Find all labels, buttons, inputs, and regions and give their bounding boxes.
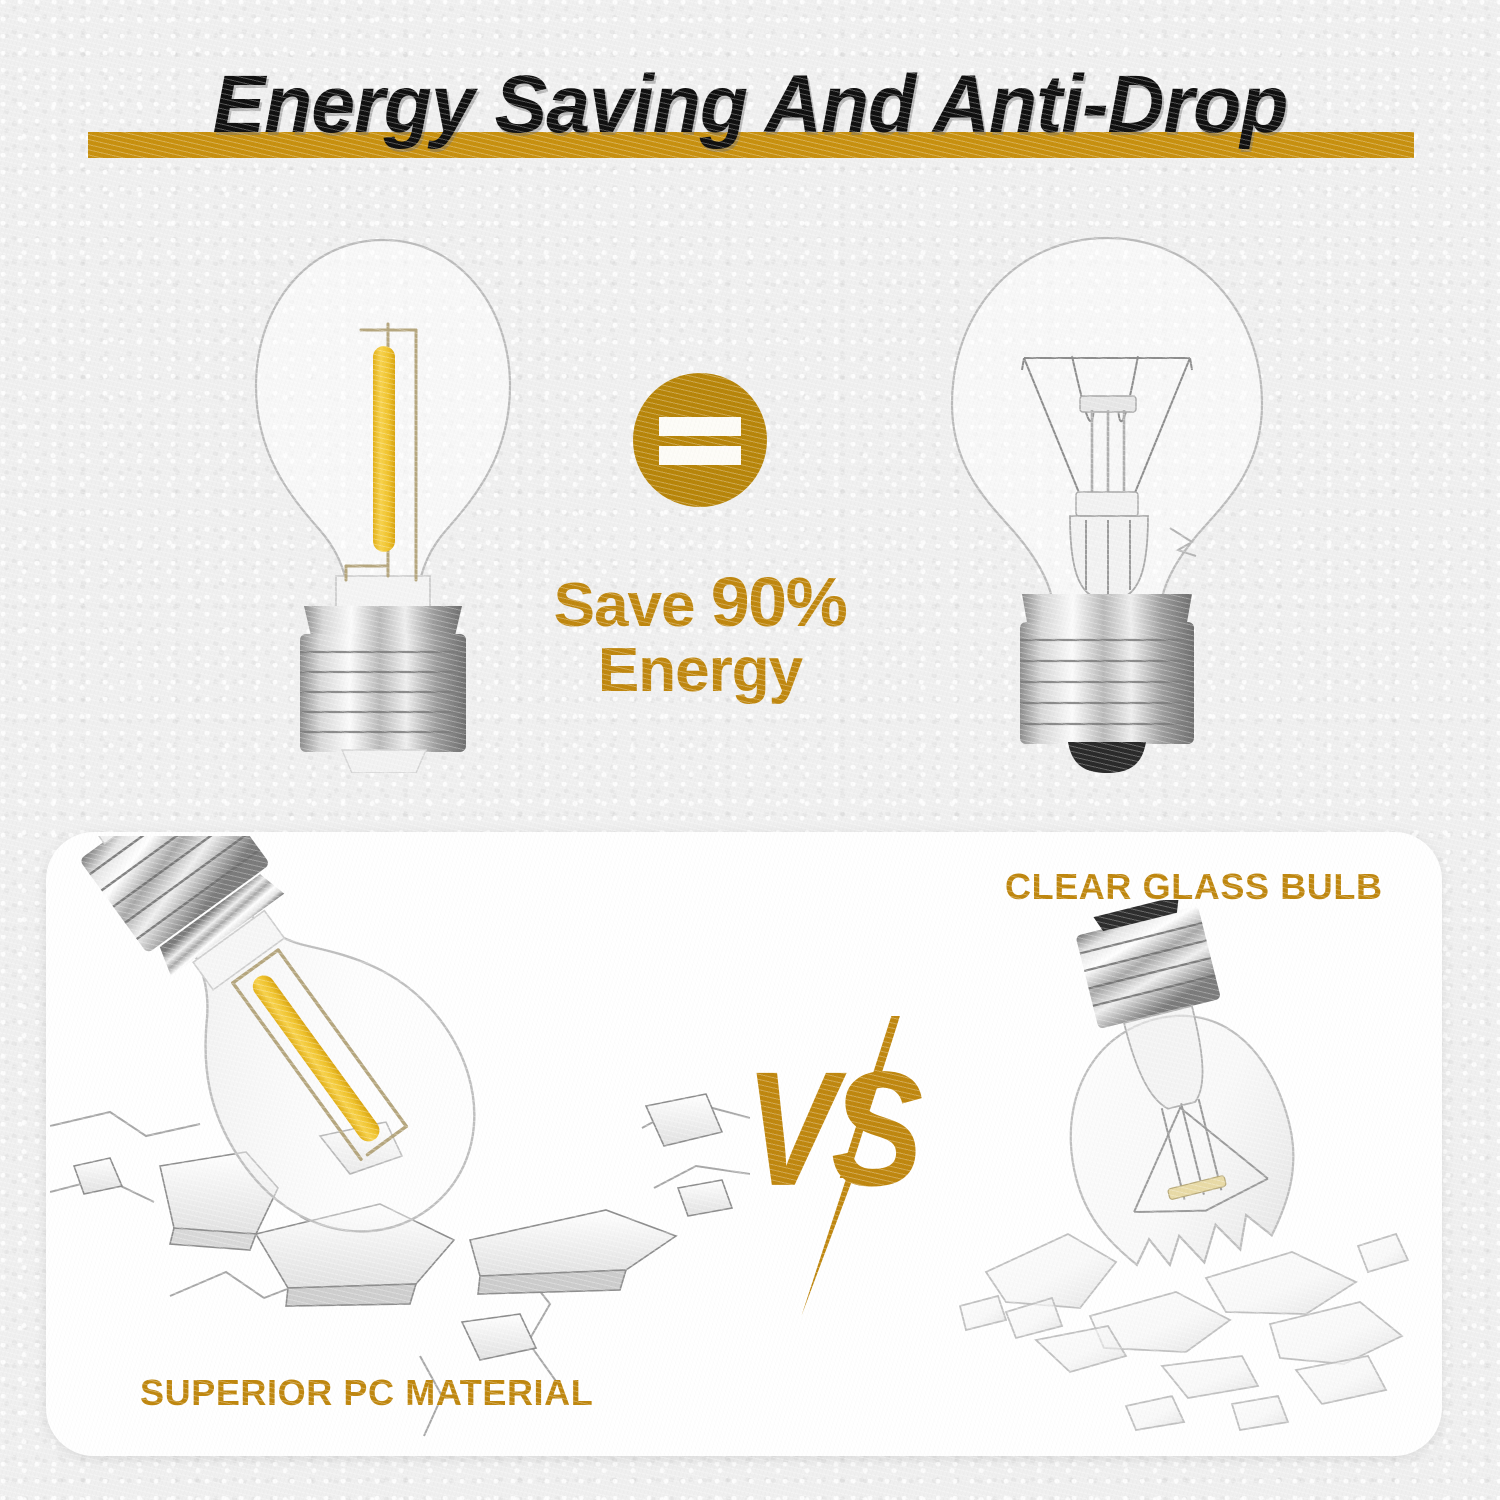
e26-screw-base [300, 606, 466, 773]
glass-bulb-shatter-scene [940, 900, 1410, 1440]
broken-bulb-body [1016, 900, 1317, 1288]
led-filament [373, 346, 395, 552]
infographic-root: Energy Saving And Anti-Drop [0, 0, 1500, 1500]
e26-screw-base [1020, 594, 1194, 773]
title-block: Energy Saving And Anti-Drop [0, 58, 1500, 183]
equals-bar-top [659, 417, 741, 436]
e26-screw-base [1072, 900, 1221, 1029]
superior-pc-material-label: SUPERIOR PC MATERIAL [140, 1372, 593, 1414]
led-filament-bulb-bottom [50, 836, 526, 1282]
save-percent-value: 90% [711, 563, 847, 641]
save-prefix-label: Save [554, 571, 711, 640]
incandescent-bulb-top [942, 228, 1272, 773]
pc-bulb-drop-scene [50, 836, 750, 1450]
equals-icon [633, 373, 767, 507]
save-energy-callout: Save 90% Energy [480, 566, 920, 703]
save-suffix-label: Energy [480, 639, 920, 703]
equals-bar-bottom [659, 446, 741, 465]
glass-shards [960, 1234, 1408, 1430]
clear-glass-bulb-label: CLEAR GLASS BULB [1005, 866, 1383, 908]
page-title: Energy Saving And Anti-Drop [30, 58, 1470, 152]
